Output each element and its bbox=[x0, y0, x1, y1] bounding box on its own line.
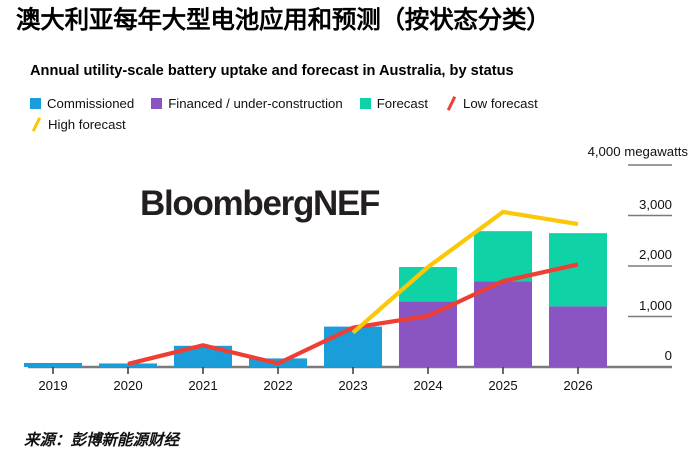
legend-label-low-forecast: Low forecast bbox=[463, 96, 538, 111]
legend-item-commissioned[interactable]: Commissioned bbox=[30, 96, 134, 111]
chart-page: 澳大利亚每年大型电池应用和预测（按状态分类） Annual utility-sc… bbox=[0, 0, 700, 463]
x-axis-tick-label: 2026 bbox=[538, 378, 618, 393]
x-axis-tick-label: 2025 bbox=[463, 378, 543, 393]
chart-subtitle: Annual utility-scale battery uptake and … bbox=[30, 62, 690, 80]
legend-item-forecast[interactable]: Forecast bbox=[360, 96, 428, 111]
y-axis-tick-label: 3,000 bbox=[639, 197, 672, 212]
x-axis-tick-label: 2024 bbox=[388, 378, 468, 393]
legend-swatch-financed-icon bbox=[151, 98, 162, 109]
legend-row-1: Commissioned Financed / under-constructi… bbox=[30, 94, 685, 112]
bar-segment[interactable] bbox=[549, 306, 607, 367]
bloombergnef-watermark: BloombergNEF bbox=[140, 184, 379, 224]
legend-label-commissioned: Commissioned bbox=[47, 96, 134, 111]
legend-label-financed: Financed / under-construction bbox=[168, 96, 342, 111]
x-axis-tick-label: 2021 bbox=[163, 378, 243, 393]
x-axis-tick-label: 2022 bbox=[238, 378, 318, 393]
bar-segment[interactable] bbox=[474, 231, 532, 281]
legend-item-low-forecast[interactable]: Low forecast bbox=[445, 96, 538, 111]
legend-item-high-forecast[interactable]: High forecast bbox=[30, 117, 126, 132]
chart-plot-area: 4,000 megawatts BloombergNEF 01,0002,000… bbox=[0, 132, 700, 407]
bar-segment[interactable] bbox=[99, 363, 157, 367]
legend-label-high-forecast: High forecast bbox=[48, 117, 126, 132]
source-note: 来源：彭博新能源财经 bbox=[24, 428, 179, 450]
bar-segment[interactable] bbox=[24, 363, 82, 367]
legend-slash-high-forecast-icon bbox=[30, 118, 43, 131]
legend-slash-low-forecast-icon bbox=[445, 97, 458, 110]
legend-swatch-commissioned-icon bbox=[30, 98, 41, 109]
legend-item-financed[interactable]: Financed / under-construction bbox=[151, 96, 342, 111]
y-axis-tick-label: 0 bbox=[665, 348, 672, 363]
bar-segment[interactable] bbox=[474, 281, 532, 367]
bar-segment[interactable] bbox=[399, 301, 457, 367]
legend-row-2: High forecast bbox=[30, 115, 685, 133]
chart-legend: Commissioned Financed / under-constructi… bbox=[30, 94, 685, 136]
x-axis-tick-label: 2019 bbox=[13, 378, 93, 393]
legend-label-forecast: Forecast bbox=[377, 96, 428, 111]
legend-swatch-forecast-icon bbox=[360, 98, 371, 109]
x-axis-tick-label: 2020 bbox=[88, 378, 168, 393]
chart-svg bbox=[0, 132, 700, 407]
y-axis-tick-label: 1,000 bbox=[639, 298, 672, 313]
y-axis-unit-label: 4,000 megawatts bbox=[588, 144, 688, 159]
x-axis-tick-label: 2023 bbox=[313, 378, 393, 393]
page-title: 澳大利亚每年大型电池应用和预测（按状态分类） bbox=[16, 6, 688, 36]
y-axis-tick-label: 2,000 bbox=[639, 247, 672, 262]
